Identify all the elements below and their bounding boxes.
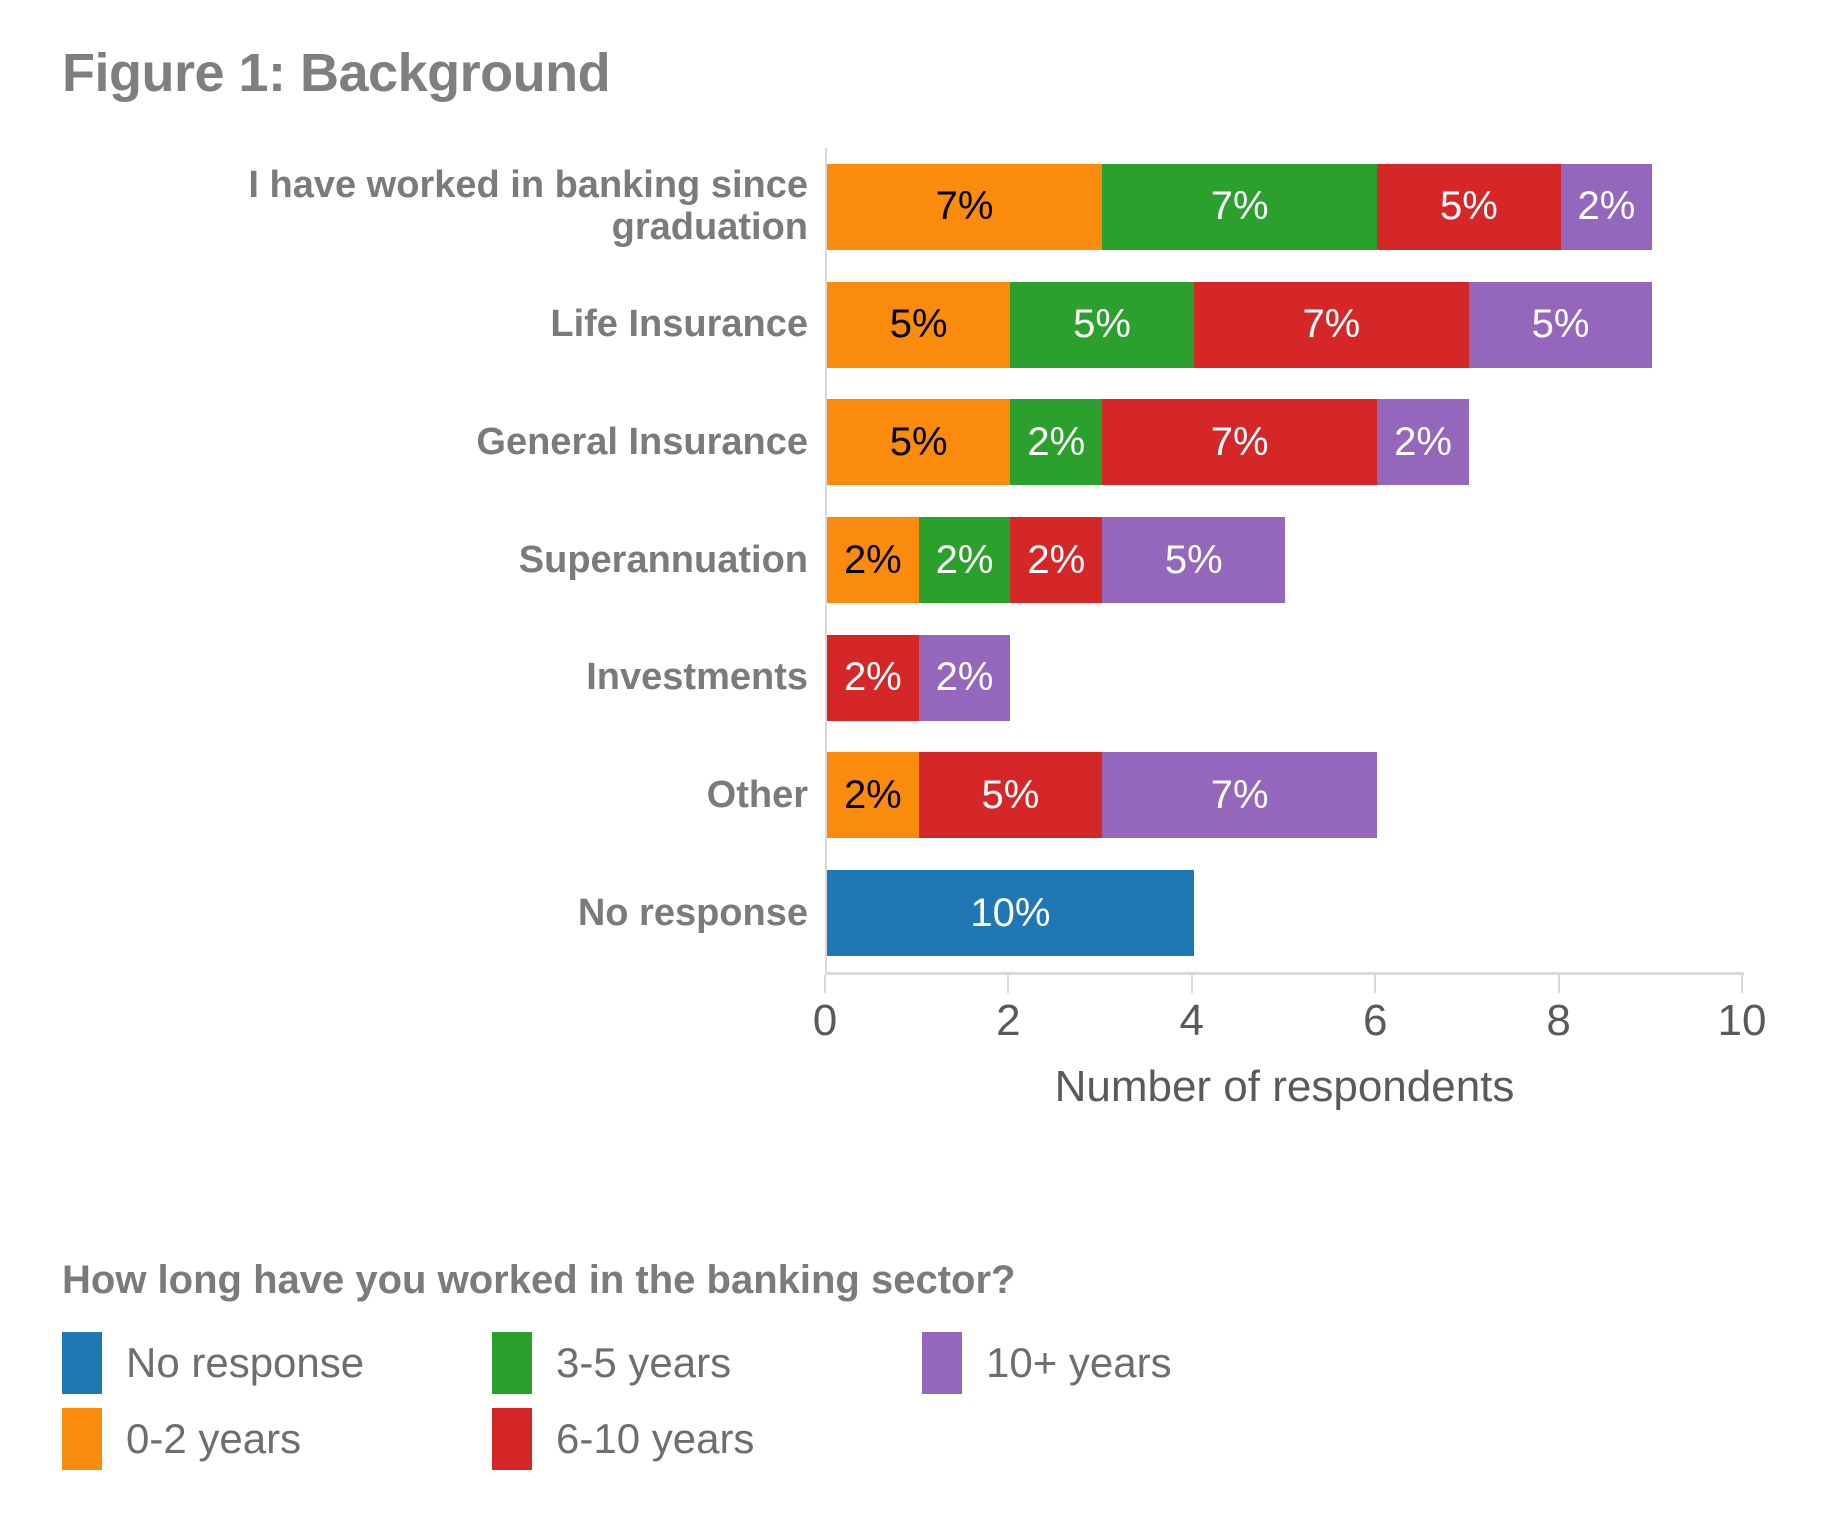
category-label-line: Other	[108, 774, 808, 817]
bar-segment[interactable]: 2%	[1010, 399, 1102, 485]
x-tick-label: 2	[968, 996, 1048, 1046]
bar-segment-label: 5%	[981, 773, 1039, 818]
bar-segment-label: 2%	[936, 538, 994, 583]
x-axis-title: Number of respondents	[825, 1062, 1744, 1112]
legend-item[interactable]: 3-5 years	[492, 1332, 922, 1394]
category-label: General Insurance	[108, 421, 808, 464]
x-tick-label: 0	[785, 996, 865, 1046]
bar-segment[interactable]: 2%	[1010, 517, 1102, 603]
bar-track: 2%5%7%	[827, 752, 1744, 838]
category-label: No response	[108, 892, 808, 935]
x-axis-line	[825, 972, 1744, 975]
legend-swatch	[492, 1332, 532, 1394]
bar-segment[interactable]: 5%	[919, 752, 1102, 838]
bar-segment-label: 7%	[1211, 773, 1269, 818]
bar-segment-label: 2%	[1394, 420, 1452, 465]
category-label-line: General Insurance	[108, 421, 808, 464]
legend-swatch	[492, 1408, 532, 1470]
bar-row: I have worked in banking sincegraduation…	[0, 164, 1830, 250]
x-tick-mark	[1007, 975, 1009, 993]
bar-segment-label: 5%	[890, 302, 948, 347]
category-label-line: Superannuation	[108, 539, 808, 582]
bar-segment-label: 7%	[1211, 420, 1269, 465]
bar-segment-label: 2%	[1027, 538, 1085, 583]
bar-segment-label: 5%	[1532, 302, 1590, 347]
bar-segment[interactable]: 7%	[1194, 282, 1469, 368]
bar-segment[interactable]: 7%	[827, 164, 1102, 250]
legend-label: 6-10 years	[556, 1415, 754, 1463]
legend-item[interactable]: 10+ years	[922, 1332, 1352, 1394]
legend-swatch	[62, 1408, 102, 1470]
legend-swatch	[922, 1332, 962, 1394]
x-tick-mark	[1558, 975, 1560, 993]
x-tick-label: 10	[1702, 996, 1782, 1046]
bar-segment-label: 2%	[844, 773, 902, 818]
bar-track: 2%2%2%5%	[827, 517, 1744, 603]
category-label: Life Insurance	[108, 303, 808, 346]
bar-row: Superannuation2%2%2%5%	[0, 517, 1830, 603]
bar-segment-label: 10%	[970, 891, 1050, 936]
bar-segment[interactable]: 2%	[919, 635, 1011, 721]
bar-segment-label: 5%	[1440, 184, 1498, 229]
x-tick-mark	[1191, 975, 1193, 993]
bar-track: 2%2%	[827, 635, 1744, 721]
bar-row: Investments2%2%	[0, 635, 1830, 721]
bar-row: Other2%5%7%	[0, 752, 1830, 838]
x-tick-label: 6	[1335, 996, 1415, 1046]
legend-item[interactable]: 0-2 years	[62, 1408, 492, 1470]
category-label: Investments	[108, 656, 808, 699]
bar-segment[interactable]: 7%	[1102, 752, 1377, 838]
bar-row: General Insurance5%2%7%2%	[0, 399, 1830, 485]
category-label-line: I have worked in banking since	[108, 164, 808, 207]
legend-label: 10+ years	[986, 1339, 1172, 1387]
legend-title: How long have you worked in the banking …	[62, 1258, 1762, 1303]
bar-segment[interactable]: 10%	[827, 870, 1194, 956]
bar-row: No response10%	[0, 870, 1830, 956]
bar-segment[interactable]: 5%	[1010, 282, 1193, 368]
bar-segment[interactable]: 2%	[827, 752, 919, 838]
bar-segment[interactable]: 2%	[827, 517, 919, 603]
bar-segment-label: 2%	[936, 655, 994, 700]
bar-segment[interactable]: 5%	[1102, 517, 1285, 603]
bar-segment-label: 5%	[1165, 538, 1223, 583]
bar-segment-label: 5%	[1073, 302, 1131, 347]
legend-swatch	[62, 1332, 102, 1394]
x-tick-mark	[1374, 975, 1376, 993]
bar-track: 10%	[827, 870, 1744, 956]
x-tick-label: 4	[1152, 996, 1232, 1046]
bar-segment-label: 2%	[1578, 184, 1636, 229]
chart-plot-area: 0246810 I have worked in banking sincegr…	[0, 0, 1830, 1060]
bar-segment-label: 2%	[1027, 420, 1085, 465]
bar-segment-label: 7%	[1302, 302, 1360, 347]
bar-track: 7%7%5%2%	[827, 164, 1744, 250]
bar-segment[interactable]: 2%	[1561, 164, 1653, 250]
bar-segment-label: 2%	[844, 538, 902, 583]
bar-segment[interactable]: 2%	[827, 635, 919, 721]
legend-label: 0-2 years	[126, 1415, 301, 1463]
bar-segment-label: 7%	[1211, 184, 1269, 229]
bar-segment-label: 2%	[844, 655, 902, 700]
category-label-line: Life Insurance	[108, 303, 808, 346]
bar-segment[interactable]: 5%	[827, 399, 1010, 485]
category-label: I have worked in banking sincegraduation	[108, 164, 808, 249]
bar-segment-label: 5%	[890, 420, 948, 465]
legend-label: No response	[126, 1339, 364, 1387]
bar-segment[interactable]: 5%	[1377, 164, 1560, 250]
bar-segment[interactable]: 2%	[1377, 399, 1469, 485]
bar-track: 5%2%7%2%	[827, 399, 1744, 485]
x-tick-label: 8	[1519, 996, 1599, 1046]
legend-item[interactable]: 6-10 years	[492, 1408, 922, 1470]
bar-row: Life Insurance5%5%7%5%	[0, 282, 1830, 368]
chart-legend: How long have you worked in the banking …	[62, 1258, 1762, 1477]
category-label-line: graduation	[108, 206, 808, 249]
bar-segment[interactable]: 7%	[1102, 399, 1377, 485]
category-label-line: Investments	[108, 656, 808, 699]
legend-items: No response3-5 years10+ years0-2 years6-…	[62, 1325, 1762, 1477]
bar-segment-label: 7%	[936, 184, 994, 229]
x-tick-mark	[1741, 975, 1743, 993]
x-tick-mark	[824, 975, 826, 993]
bar-segment[interactable]: 5%	[827, 282, 1010, 368]
bar-track: 5%5%7%5%	[827, 282, 1744, 368]
category-label: Superannuation	[108, 539, 808, 582]
legend-item[interactable]: No response	[62, 1332, 492, 1394]
bar-segment[interactable]: 5%	[1469, 282, 1652, 368]
bar-segment[interactable]: 7%	[1102, 164, 1377, 250]
bar-segment[interactable]: 2%	[919, 517, 1011, 603]
legend-label: 3-5 years	[556, 1339, 731, 1387]
category-label: Other	[108, 774, 808, 817]
category-label-line: No response	[108, 892, 808, 935]
